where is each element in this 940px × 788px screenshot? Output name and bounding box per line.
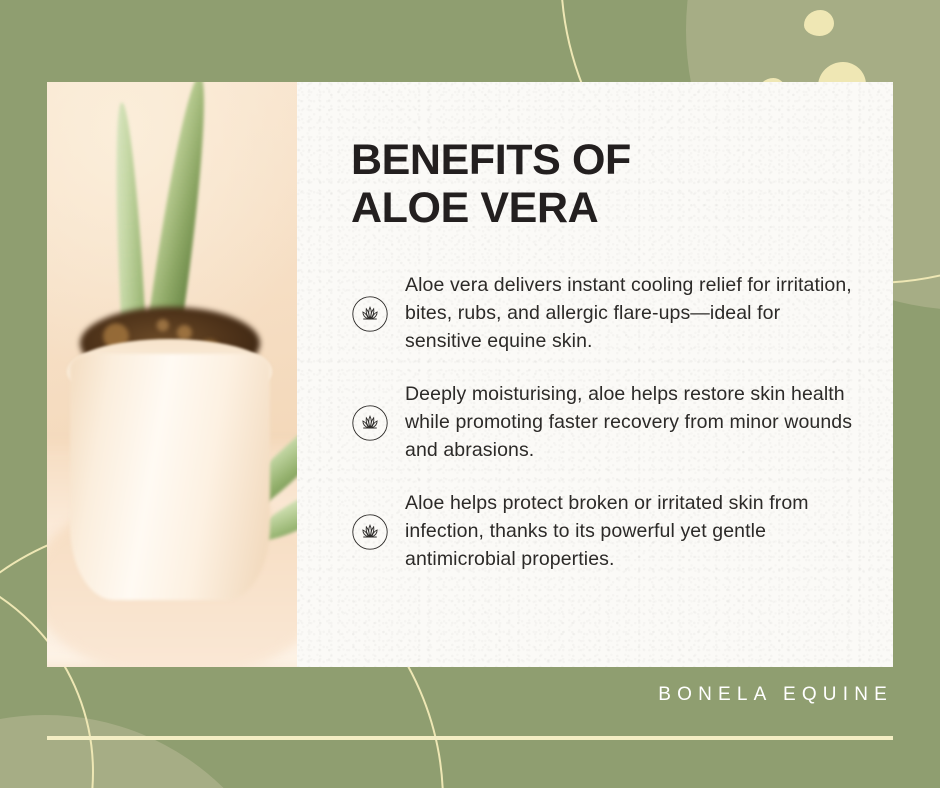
page-title: BENEFITS OF ALOE VERA [351, 136, 857, 232]
benefit-text: Aloe helps protect broken or irritated s… [405, 490, 857, 573]
footer-divider-line [47, 736, 893, 740]
blob-4 [804, 10, 834, 36]
benefit-text: Deeply moisturising, aloe helps restore … [405, 381, 857, 464]
benefits-list: Aloe vera delivers instant cooling relie… [351, 272, 857, 573]
lotus-icon [351, 404, 389, 442]
lotus-icon [351, 295, 389, 333]
benefit-item-3: Aloe helps protect broken or irritated s… [351, 490, 857, 573]
benefit-item-1: Aloe vera delivers instant cooling relie… [351, 272, 857, 355]
text-panel: BENEFITS OF ALOE VERA [297, 82, 893, 667]
content-card: BENEFITS OF ALOE VERA [47, 82, 893, 667]
brand-name: BONELA EQUINE [0, 684, 893, 706]
poster-canvas: BENEFITS OF ALOE VERA [0, 0, 940, 788]
aloe-plant-photo [47, 82, 297, 667]
benefit-text: Aloe vera delivers instant cooling relie… [405, 272, 857, 355]
lotus-icon [351, 513, 389, 551]
photo-ceramic-pot [70, 354, 270, 600]
benefit-item-2: Deeply moisturising, aloe helps restore … [351, 381, 857, 464]
